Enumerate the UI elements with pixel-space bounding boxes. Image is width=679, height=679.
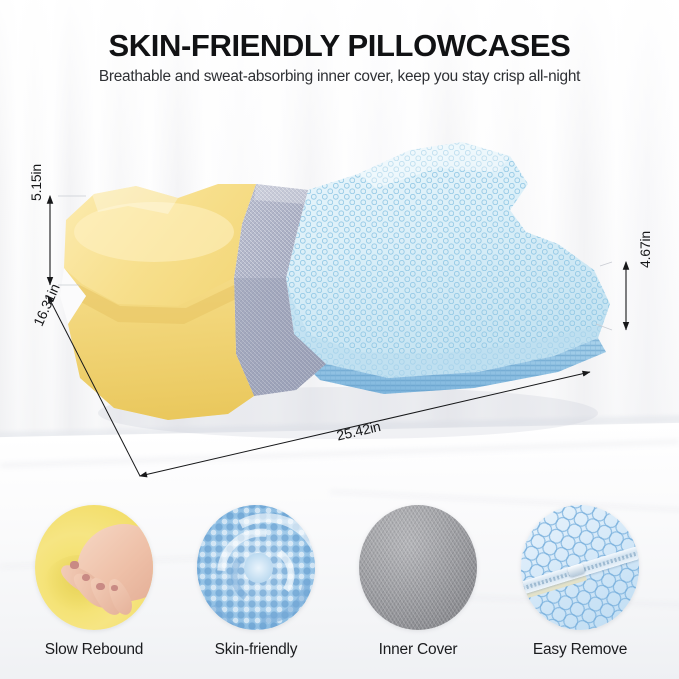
feature-item-skin-friendly: Skin-friendly (176, 505, 336, 659)
product-infographic: SKIN-FRIENDLY PILLOWCASES Breathable and… (0, 0, 679, 679)
feature-label: Slow Rebound (14, 641, 174, 659)
feature-item-easy-remove: Easy Remove (500, 505, 660, 659)
swirled-fabric-icon (197, 505, 315, 630)
dimension-side-height-label: 4.67in (637, 231, 653, 268)
zipper-fabric-icon (521, 505, 639, 630)
feature-label: Inner Cover (338, 641, 498, 659)
dimension-height-label: 5.15in (28, 164, 44, 201)
feature-item-inner-cover: Inner Cover (338, 505, 498, 659)
feature-label: Easy Remove (500, 641, 660, 659)
feature-row: Slow Rebound Skin-friendly Inner Cover (0, 505, 679, 679)
feature-item-slow-rebound: Slow Rebound (14, 505, 174, 659)
feature-label: Skin-friendly (176, 641, 336, 659)
hand-pressing-foam-icon (35, 505, 153, 630)
grey-mesh-fabric-icon (359, 505, 477, 630)
